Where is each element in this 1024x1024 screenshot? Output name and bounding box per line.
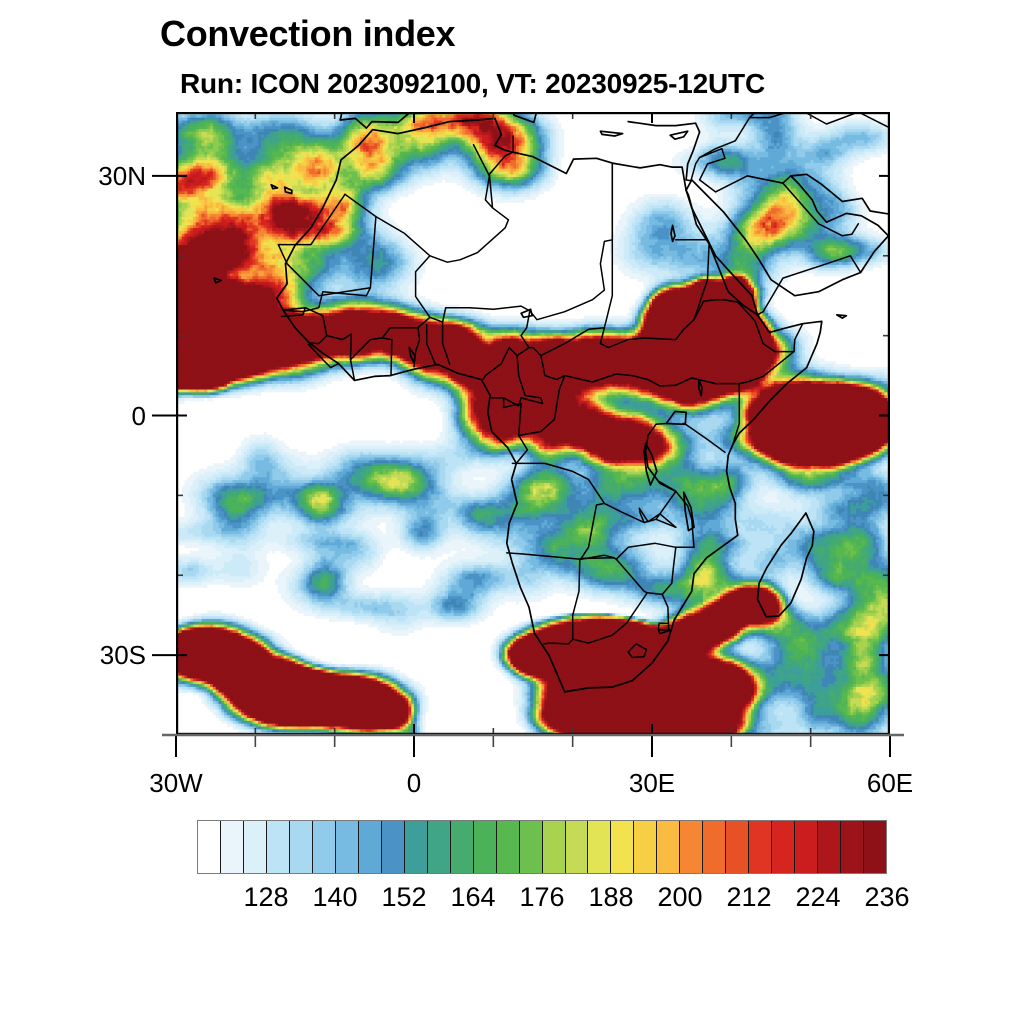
x-axis-label-30w: 30W	[149, 770, 202, 796]
colorbar-cell-24	[749, 821, 772, 873]
colorbar-label-176: 176	[519, 884, 564, 911]
x-axis-label-60e: 60E	[867, 770, 913, 796]
colorbar-cell-3	[267, 821, 290, 873]
colorbar-cell-4	[290, 821, 313, 873]
colorbar-cell-12	[474, 821, 497, 873]
colorbar-cell-29	[864, 821, 886, 873]
colorbar-cell-9	[405, 821, 428, 873]
x-axis-label-0: 0	[407, 770, 421, 796]
colorbar	[197, 820, 887, 874]
page-title: Convection index	[160, 16, 455, 52]
colorbar-cell-0	[198, 821, 221, 873]
forecast-chart-page: Convection index Run: ICON 2023092100, V…	[0, 0, 1024, 1024]
map-plot-area	[176, 112, 890, 735]
colorbar-cell-14	[520, 821, 543, 873]
run-valid-time-subtitle: Run: ICON 2023092100, VT: 20230925-12UTC	[180, 70, 765, 98]
colorbar-cell-10	[428, 821, 451, 873]
colorbar-label-200: 200	[657, 884, 702, 911]
colorbar-label-224: 224	[795, 884, 840, 911]
colorbar-cell-6	[336, 821, 359, 873]
colorbar-cell-18	[611, 821, 634, 873]
colorbar-cell-16	[566, 821, 589, 873]
colorbar-label-140: 140	[312, 884, 357, 911]
colorbar-cell-27	[818, 821, 841, 873]
colorbar-cell-28	[841, 821, 864, 873]
colorbar-cell-15	[543, 821, 566, 873]
colorbar-cell-8	[382, 821, 405, 873]
convection-index-map	[176, 112, 890, 735]
colorbar-cell-2	[244, 821, 267, 873]
colorbar-label-236: 236	[864, 884, 909, 911]
colorbar-label-152: 152	[381, 884, 426, 911]
colorbar-label-188: 188	[588, 884, 633, 911]
colorbar-cell-13	[497, 821, 520, 873]
colorbar-cell-26	[795, 821, 818, 873]
colorbar-cell-21	[680, 821, 703, 873]
colorbar-cell-22	[703, 821, 726, 873]
colorbar-cell-23	[726, 821, 749, 873]
colorbar-cell-11	[451, 821, 474, 873]
colorbar-label-164: 164	[450, 884, 495, 911]
x-axis-label-30e: 30E	[629, 770, 675, 796]
colorbar-cell-20	[657, 821, 680, 873]
colorbar-cell-19	[634, 821, 657, 873]
colorbar-label-212: 212	[726, 884, 771, 911]
colorbar-cell-7	[359, 821, 382, 873]
y-axis-label-0: 0	[132, 403, 146, 429]
colorbar-cell-25	[772, 821, 795, 873]
colorbar-cell-1	[221, 821, 244, 873]
y-axis-label-30n: 30N	[98, 163, 146, 189]
colorbar-cell-5	[313, 821, 336, 873]
colorbar-cell-17	[588, 821, 611, 873]
colorbar-strip	[197, 820, 887, 874]
colorbar-label-128: 128	[243, 884, 288, 911]
y-axis-label-30s: 30S	[100, 642, 146, 668]
